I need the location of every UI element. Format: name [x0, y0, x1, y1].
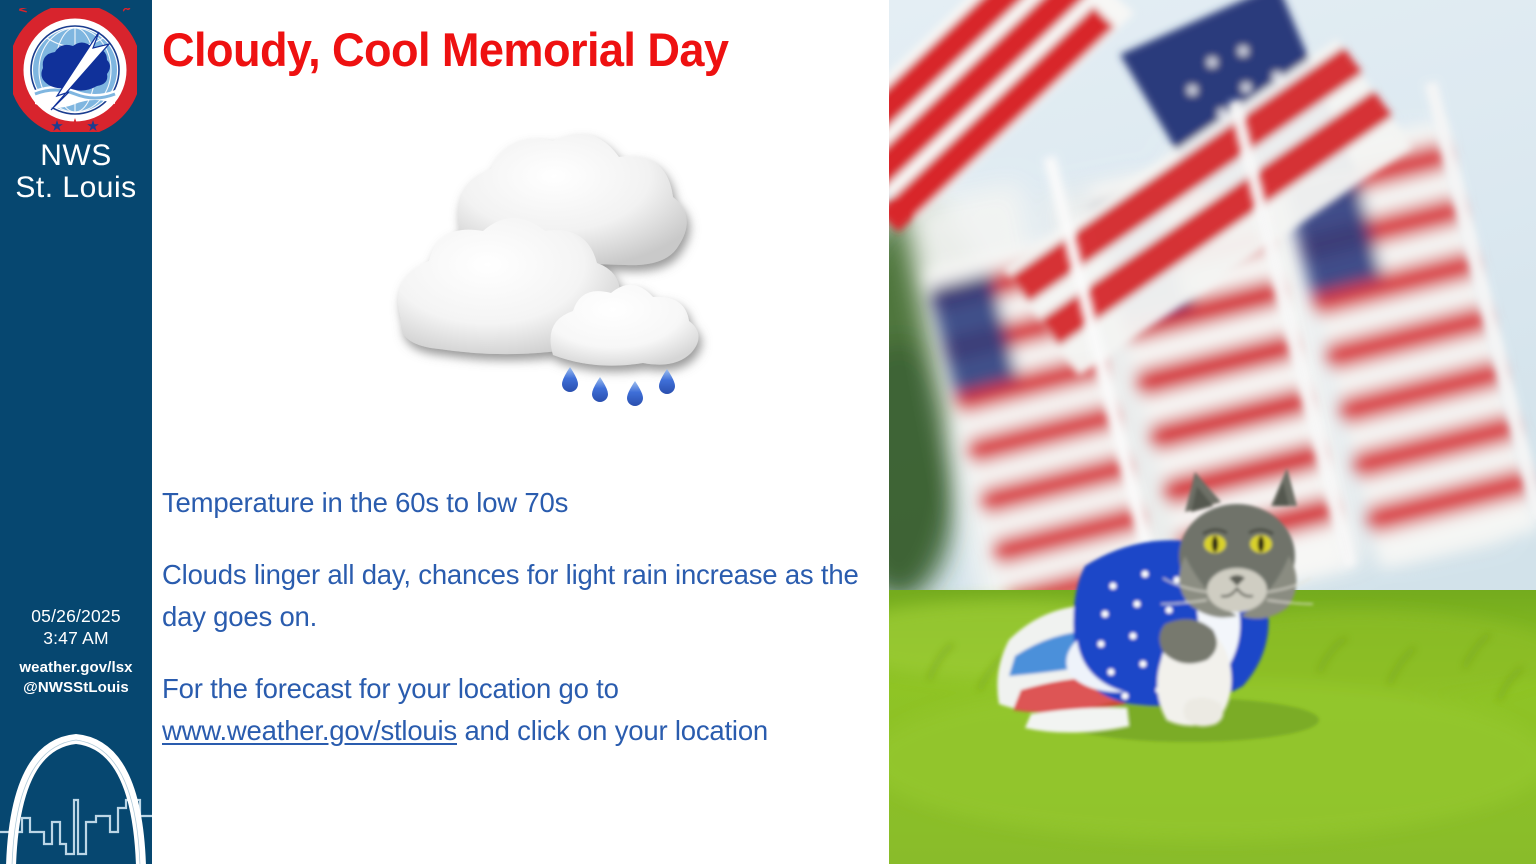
office-name: NWS St. Louis — [0, 140, 152, 205]
weather-graphic: NATIONAL WEATHER SERVICE NWS St. Louis 0… — [0, 0, 1536, 864]
office-name-line1: NWS — [0, 140, 152, 172]
contact-info: weather.gov/lsx @NWSStLouis — [0, 658, 152, 699]
social-handle[interactable]: @NWSStLouis — [0, 678, 152, 698]
office-name-line2: St. Louis — [0, 172, 152, 204]
nws-logo-icon: NATIONAL WEATHER SERVICE — [13, 8, 137, 132]
page-title: Cloudy, Cool Memorial Day — [162, 22, 853, 77]
sidebar: NATIONAL WEATHER SERVICE NWS St. Louis 0… — [0, 0, 152, 864]
timestamp: 05/26/2025 3:47 AM — [0, 605, 152, 650]
website-url[interactable]: weather.gov/lsx — [0, 658, 152, 678]
gateway-arch-icon — [0, 704, 152, 864]
cloudy-with-light-rain-icon — [367, 105, 727, 415]
forecast-text: Temperature in the 60s to low 70s Clouds… — [162, 482, 887, 752]
forecast-temperature: Temperature in the 60s to low 70s — [162, 482, 887, 524]
memorial-day-photo — [889, 0, 1536, 864]
cta-prefix: For the forecast for your location go to — [162, 673, 619, 704]
issue-date: 05/26/2025 — [0, 605, 152, 627]
rain-drops — [562, 367, 675, 406]
forecast-link[interactable]: www.weather.gov/stlouis — [162, 715, 457, 746]
main-panel: Cloudy, Cool Memorial Day — [152, 0, 889, 864]
forecast-cta: For the forecast for your location go to… — [162, 668, 887, 752]
issue-time: 3:47 AM — [0, 627, 152, 649]
forecast-conditions: Clouds linger all day, chances for light… — [162, 554, 887, 638]
cta-suffix: and click on your location — [457, 715, 768, 746]
